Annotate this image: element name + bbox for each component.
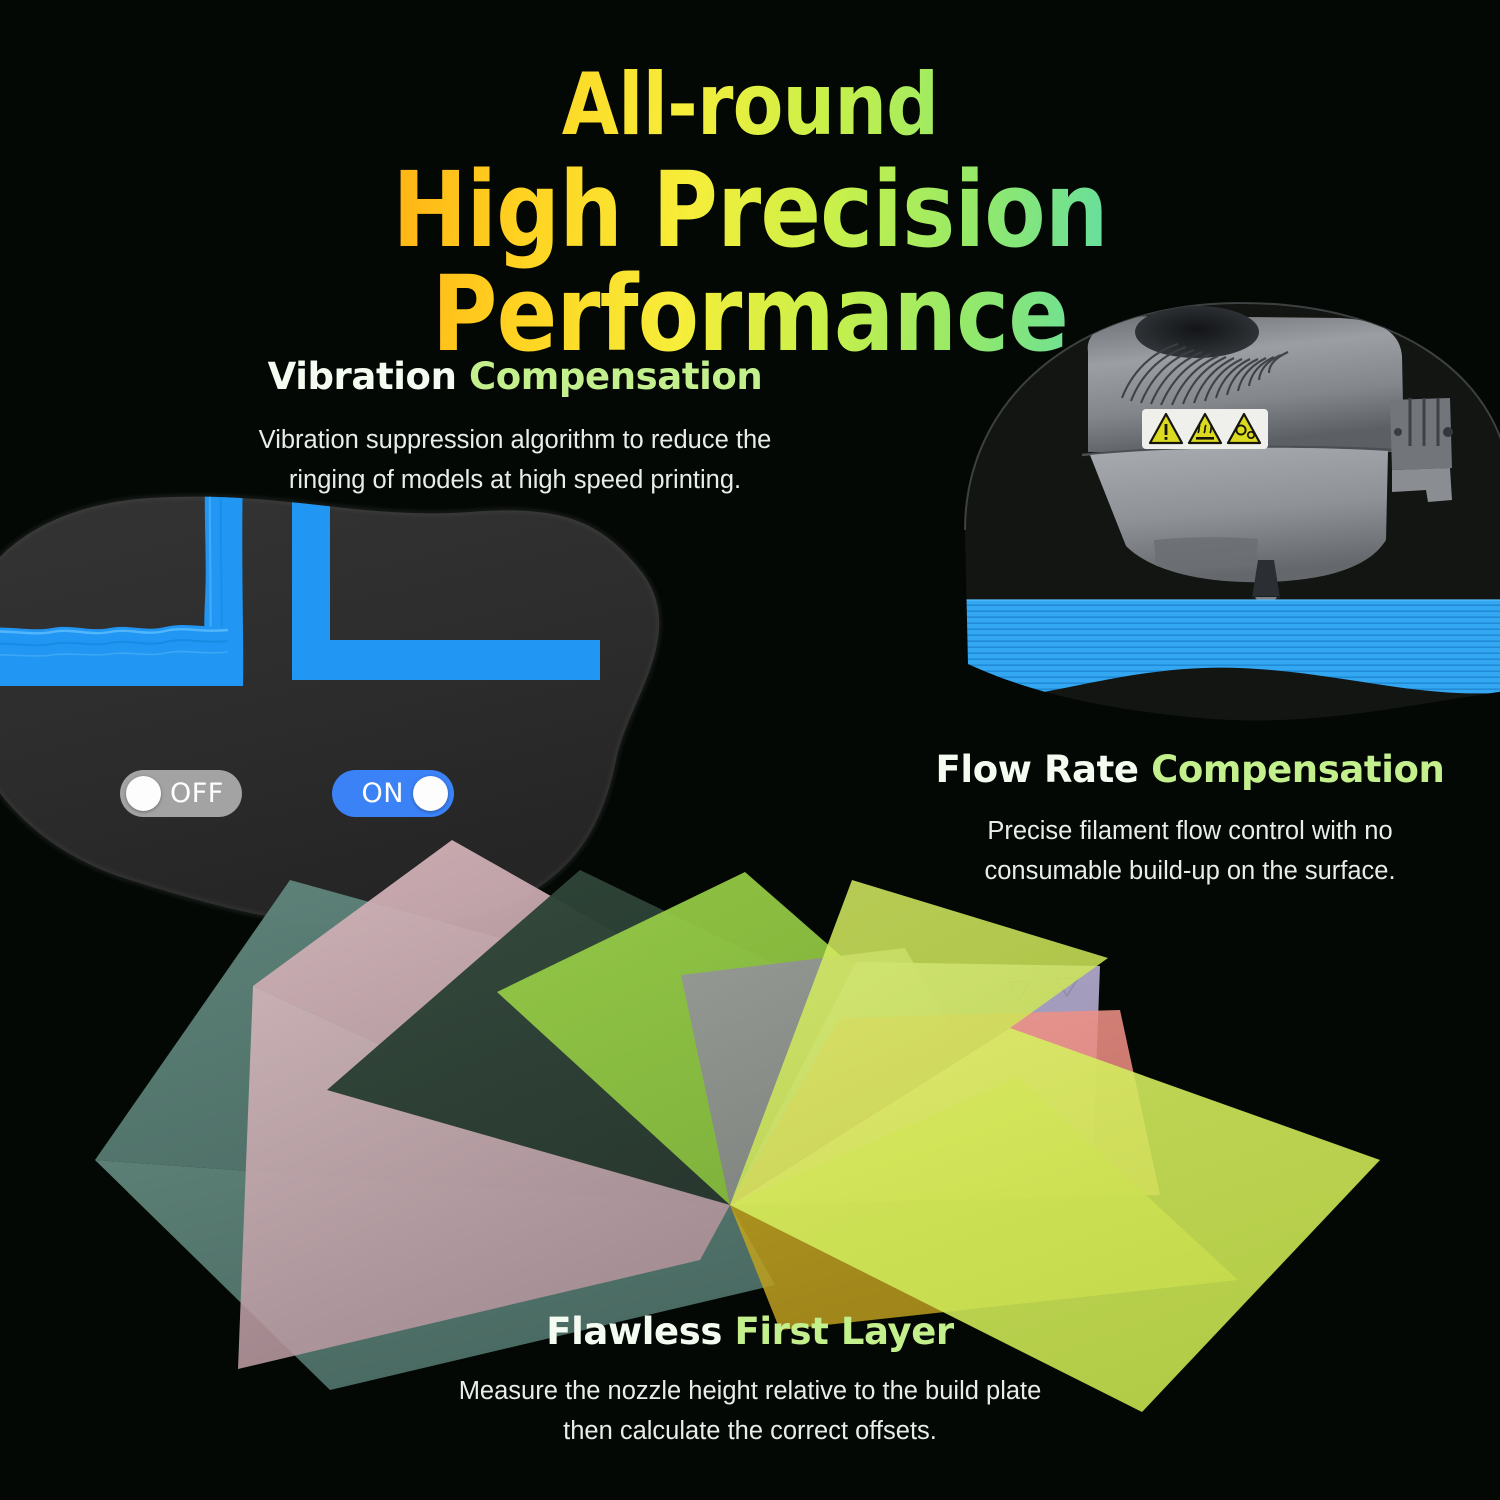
- first-layer-heading-white: Flawless: [546, 1310, 734, 1353]
- poster-root: All-round High Precision Performance: [0, 0, 1500, 1500]
- flow-rate-body-line-2: consumable build-up on the surface.: [900, 851, 1480, 891]
- flow-rate-heading-white: Flow Rate: [936, 748, 1152, 791]
- flow-rate-body: Precise filament flow control with no co…: [900, 811, 1480, 892]
- first-layer-heading: Flawless First Layer: [330, 1310, 1170, 1353]
- flow-rate-body-line-1: Precise filament flow control with no: [900, 811, 1480, 851]
- first-layer-body-line-2: then calculate the correct offsets.: [330, 1411, 1170, 1451]
- first-layer-heading-green: First Layer: [734, 1310, 953, 1353]
- title-line-1: All-round: [105, 62, 1395, 148]
- vibration-heading-green: Compensation: [469, 355, 762, 398]
- vibration-body-line-2: ringing of models at high speed printing…: [120, 460, 910, 500]
- vibration-toggle-on[interactable]: ON: [332, 770, 454, 817]
- toggle-on-label: ON: [362, 778, 404, 809]
- vibration-toggle-group: OFF ON: [120, 770, 454, 817]
- toggle-knob-on: [413, 776, 448, 811]
- vibration-heading-white: Vibration: [268, 355, 469, 398]
- title-line-2: High Precision Performance: [105, 158, 1395, 366]
- flow-rate-heading: Flow Rate Compensation: [900, 748, 1480, 791]
- toggle-off-label: OFF: [170, 778, 224, 809]
- first-layer-body-line-1: Measure the nozzle height relative to th…: [330, 1371, 1170, 1411]
- flow-rate-heading-green: Compensation: [1151, 748, 1444, 791]
- vibration-text-block: Vibration Compensation Vibration suppres…: [120, 355, 910, 501]
- first-layer-body: Measure the nozzle height relative to th…: [330, 1371, 1170, 1452]
- vibration-heading: Vibration Compensation: [120, 355, 910, 398]
- vibration-body-line-1: Vibration suppression algorithm to reduc…: [120, 420, 910, 460]
- flawless-first-layer-text-block: Flawless First Layer Measure the nozzle …: [330, 1310, 1170, 1452]
- vibration-toggle-off[interactable]: OFF: [120, 770, 242, 817]
- flow-rate-text-block: Flow Rate Compensation Precise filament …: [900, 748, 1480, 892]
- vibration-body: Vibration suppression algorithm to reduc…: [120, 420, 910, 501]
- page-title: All-round High Precision Performance: [0, 62, 1500, 366]
- toggle-knob-off: [126, 776, 161, 811]
